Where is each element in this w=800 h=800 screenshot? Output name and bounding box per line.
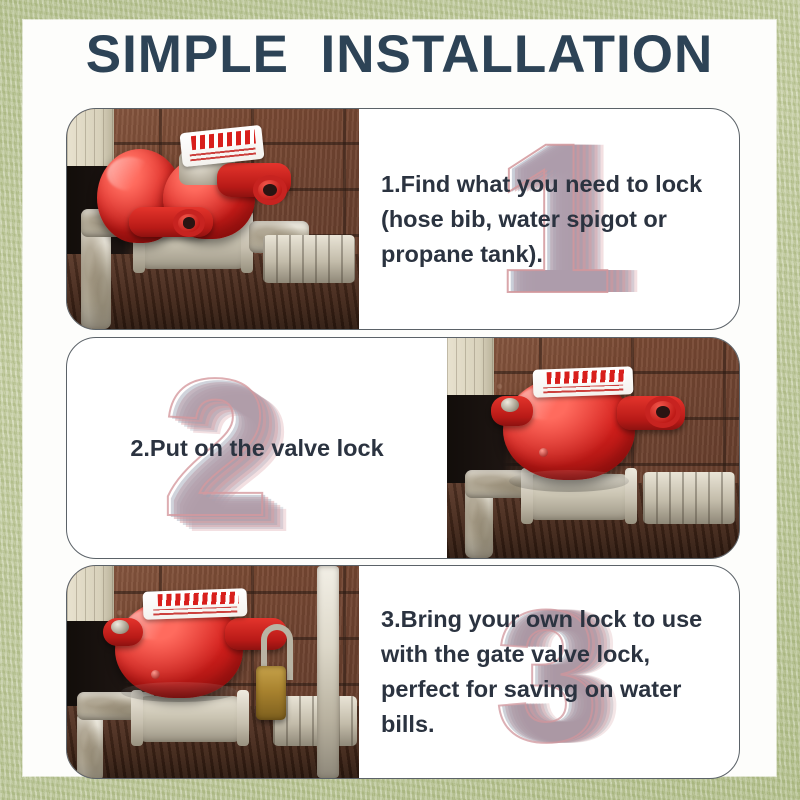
step-3-text-pane: 3 3.Bring your own lock to use with the … (359, 566, 739, 778)
step-3-photo (67, 566, 359, 778)
valve-scene-1 (67, 109, 359, 329)
lock-rim (509, 470, 629, 492)
vertical-pipe (77, 712, 103, 778)
lock-indicator-dot (539, 448, 548, 457)
step-card-3: 3 3.Bring your own lock to use with the … (66, 565, 740, 779)
lock-indicator-dot (151, 670, 160, 679)
vertical-pipe (81, 221, 111, 329)
infographic-poster: SIMPLE INSTALLATION (0, 0, 800, 800)
step-1-text-pane: 1 1.Find what you need to lock (hose bib… (359, 109, 739, 329)
brass-padlock (253, 624, 289, 720)
hinge-bolt (501, 398, 519, 412)
spigot-ribs (643, 472, 735, 524)
warning-tag-label (533, 366, 634, 397)
hasp-eye-upper (253, 175, 287, 205)
valve-scene-3 (67, 566, 359, 778)
spigot-ribs (263, 235, 355, 283)
hose-spigot (263, 235, 355, 283)
valve-scene-2 (447, 338, 739, 558)
hasp-eye (645, 396, 681, 428)
lock-highlight (107, 157, 153, 191)
step-3-text: 3.Bring your own lock to use with the ga… (359, 602, 739, 742)
padlock-body (256, 666, 286, 720)
warning-tag-label (143, 588, 248, 620)
hose-spigot (643, 472, 735, 524)
valve-body (137, 696, 243, 742)
downspout-pipe (317, 566, 339, 778)
page-title: SIMPLE INSTALLATION (23, 24, 776, 86)
step-2-text-pane: 2 2.Put on the valve lock (67, 338, 447, 558)
step-1-text: 1.Find what you need to lock (hose bib, … (359, 167, 739, 272)
hinge-bolt (111, 620, 129, 634)
hasp-eye-lower (173, 209, 205, 237)
lock-rim (121, 682, 237, 702)
step-card-1: 1 1.Find what you need to lock (hose bib… (66, 108, 740, 330)
step-card-2: 2 2.Put on the valve lock (66, 337, 740, 559)
step-2-text: 2.Put on the valve lock (67, 431, 447, 466)
step-1-photo (67, 109, 359, 329)
valve-flange-right (237, 690, 249, 746)
valve-flange-right (625, 468, 637, 524)
step-2-photo (447, 338, 739, 558)
